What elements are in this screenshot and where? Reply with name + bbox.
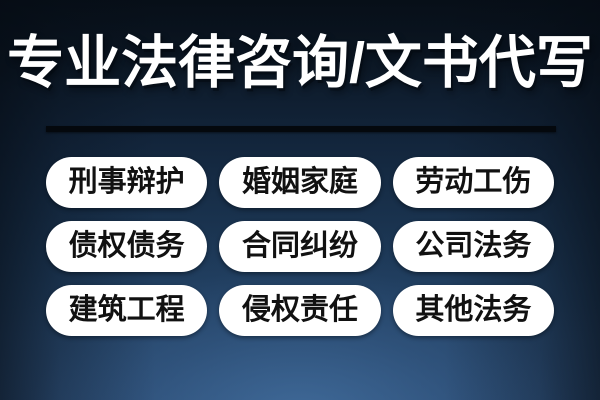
service-pill-criminal-defense[interactable]: 刑事辩护 [46, 157, 207, 208]
service-pill-row: 刑事辩护 婚姻家庭 劳动工伤 [46, 157, 554, 208]
service-pill-labor-injury[interactable]: 劳动工伤 [393, 157, 554, 208]
service-pill-construction-engineering[interactable]: 建筑工程 [46, 285, 207, 336]
service-pill-marriage-family[interactable]: 婚姻家庭 [219, 157, 380, 208]
service-pill-contract-dispute[interactable]: 合同纠纷 [219, 221, 380, 272]
service-pill-grid: 刑事辩护 婚姻家庭 劳动工伤 债权债务 合同纠纷 公司法务 建筑工程 侵权责任 … [46, 157, 554, 336]
headline-divider [46, 126, 556, 132]
banner-headline: 专业法律咨询/文书代写 [0, 26, 600, 100]
service-pill-other-legal[interactable]: 其他法务 [393, 285, 554, 336]
service-pill-row: 建筑工程 侵权责任 其他法务 [46, 285, 554, 336]
banner-content: 专业法律咨询/文书代写 刑事辩护 婚姻家庭 劳动工伤 债权债务 合同纠纷 公司法… [0, 0, 600, 400]
service-pill-row: 债权债务 合同纠纷 公司法务 [46, 221, 554, 272]
legal-services-banner: 专业法律咨询/文书代写 刑事辩护 婚姻家庭 劳动工伤 债权债务 合同纠纷 公司法… [0, 0, 600, 400]
service-pill-corporate-legal[interactable]: 公司法务 [393, 221, 554, 272]
service-pill-tort-liability[interactable]: 侵权责任 [219, 285, 380, 336]
service-pill-creditor-debt[interactable]: 债权债务 [46, 221, 207, 272]
